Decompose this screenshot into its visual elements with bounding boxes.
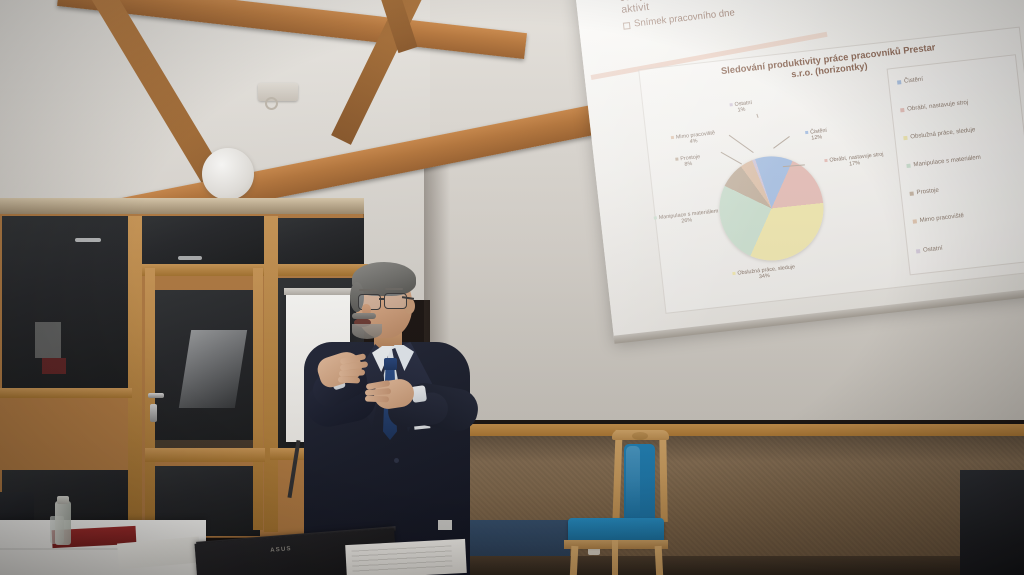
chair-leg-back-left xyxy=(612,540,618,575)
legend-item-manipulace: Manipulace s materiálem xyxy=(906,154,981,169)
legend-swatch-manipulace xyxy=(906,163,910,167)
legend-item-mimo-pracoviste: Mimo pracoviště xyxy=(912,212,964,225)
wooden-chair xyxy=(560,430,672,575)
projection-screen-surface: Jak jsme dospěli ke změně názoru na potř… xyxy=(574,0,1024,340)
door-lock-plate[interactable] xyxy=(150,404,157,422)
pie-label-swatch-cisteni xyxy=(805,131,808,134)
glass-pane-transom-right xyxy=(278,218,364,268)
glasses-bridge xyxy=(379,298,385,300)
door-rail-lower xyxy=(145,448,265,462)
pie-chart-area: Ostatní 1% Mimo pracoviště 4% Prostoje 8… xyxy=(651,82,902,306)
leader-line-prostoje xyxy=(721,152,742,165)
pie-label-obrabi: Obrábí, nastavuje stroj 17% xyxy=(824,152,884,171)
bullet-square-icon xyxy=(623,22,631,30)
legend-swatch-prostoje xyxy=(909,191,913,195)
pie-label-swatch-ostatni xyxy=(730,103,733,106)
chart-container: Sledování produktivity práce pracovníků … xyxy=(638,27,1024,314)
legend-swatch-ostatni xyxy=(916,249,920,253)
reflection-ceiling-light-1 xyxy=(75,238,101,242)
pie-label-swatch-mimo xyxy=(671,136,674,139)
chart-legend: Čistění Obrábí, nastavuje stroj Obslužná… xyxy=(887,54,1024,275)
door-frame-right xyxy=(253,268,263,530)
presenter-eyebrow-right xyxy=(385,288,403,290)
partition-mullion-vertical-2 xyxy=(264,216,278,532)
door-frame-left xyxy=(145,268,155,530)
pie-label-obsluzna: Obslužná práce, sleduje 34% xyxy=(732,264,796,283)
legend-item-ostatni: Ostatní xyxy=(916,245,943,255)
pie-label-swatch-manipulace xyxy=(654,216,657,219)
foreground-dark-object-right xyxy=(960,470,1024,575)
pie-label-cisteni: Čistění 12% xyxy=(805,128,828,143)
legend-item-cisteni: Čistění xyxy=(897,76,924,86)
reflection-ceiling-light-2 xyxy=(178,256,202,260)
legend-swatch-obrabi xyxy=(900,107,904,111)
presenter-eyebrow-left xyxy=(359,289,377,291)
legend-swatch-mimo xyxy=(913,219,917,223)
chair-back-cushion-highlight xyxy=(626,446,640,516)
presenter-jacket-button xyxy=(394,458,399,463)
pie-label-manipulace: Manipulace s materiálem 26% xyxy=(654,208,720,228)
pie-label-prostoje: Prostoje 8% xyxy=(675,154,701,169)
presenter-beard xyxy=(352,324,382,339)
leader-line-mimo xyxy=(729,135,754,153)
pie-label-mimo-pracoviste: Mimo pracoviště 4% xyxy=(671,130,716,147)
slide-content: Jak jsme dospěli ke změně názoru na potř… xyxy=(620,0,1024,321)
chair-back-post-right xyxy=(659,432,668,522)
chair-leg-front-left xyxy=(569,546,579,575)
reflection-red-sign xyxy=(42,358,66,374)
bottle-cap xyxy=(57,496,69,504)
ceiling-hook-icon xyxy=(265,97,278,110)
presenter-mustache xyxy=(352,313,376,319)
pie-label-ostatni: Ostatní 1% xyxy=(729,100,753,115)
ceiling-vent xyxy=(258,83,298,101)
legend-swatch-cisteni xyxy=(897,80,901,84)
legend-item-obsluzna: Obslužná práce, sleduje xyxy=(903,126,976,141)
leader-line-cisteni xyxy=(773,136,790,149)
water-bottle xyxy=(55,501,71,545)
partition-mullion-vertical-1 xyxy=(128,216,142,532)
legend-item-prostoje: Prostoje xyxy=(909,187,939,197)
presenter-finger-right-3 xyxy=(365,396,389,403)
legend-swatch-obsluzna xyxy=(903,135,907,139)
presenter-tie-knot xyxy=(384,358,397,370)
chair-medallion-detail xyxy=(632,432,648,440)
wainscot-shadow xyxy=(430,436,1024,462)
projection-screen: Jak jsme dospěli ke změně názoru na potř… xyxy=(574,0,1024,362)
presentation-room-photo: Jak jsme dospěli ke změně názoru na potř… xyxy=(0,0,1024,575)
leader-line-ostatni xyxy=(756,114,758,118)
pie-label-swatch-obrabi xyxy=(824,159,827,162)
pie-label-swatch-prostoje xyxy=(675,158,678,161)
presenter-finger-left-4 xyxy=(338,376,360,383)
door-handle[interactable] xyxy=(148,393,164,398)
chair-back-post-left xyxy=(612,430,622,522)
reflection-wall-sign xyxy=(35,322,61,358)
legend-item-obrabi: Obrábí, nastavuje stroj xyxy=(900,99,969,114)
partition-mullion-horizontal-2 xyxy=(0,388,132,398)
wall-lamp-icon xyxy=(202,148,254,200)
glass-pane-transom-middle xyxy=(140,216,268,264)
partition-header-trim xyxy=(0,198,364,214)
baseboard-trim xyxy=(430,556,1024,575)
presenter-name-badge xyxy=(438,520,452,530)
pie-chart xyxy=(714,151,829,266)
pie-label-swatch-obsluzna xyxy=(732,272,735,275)
chair-leg-front-right xyxy=(655,546,665,575)
